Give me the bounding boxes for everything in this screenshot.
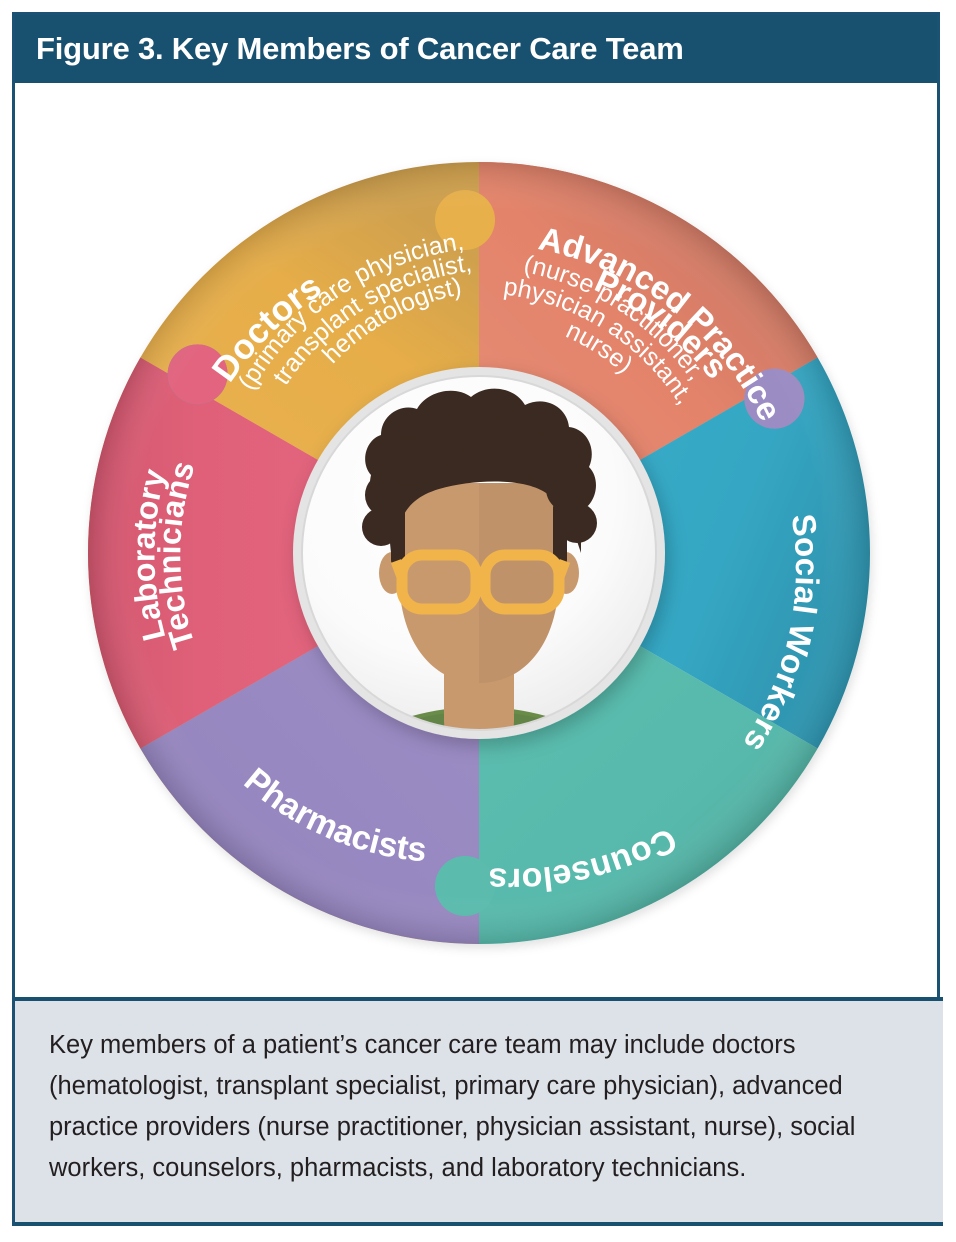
figure-caption: Key members of a patient’s cancer care t…	[15, 997, 943, 1226]
puzzle-wheel-svg: Doctors (primary care physician, transpl…	[15, 83, 937, 993]
page-title: Figure 3. Key Members of Cancer Care Tea…	[15, 31, 684, 67]
avatar-sideburn-left	[391, 501, 405, 567]
puzzle-wheel: Doctors (primary care physician, transpl…	[15, 83, 937, 993]
figure-container: Figure 3. Key Members of Cancer Care Tea…	[12, 12, 940, 1226]
figure-header: Figure 3. Key Members of Cancer Care Tea…	[15, 15, 937, 83]
figure-illustration-area: Doctors (primary care physician, transpl…	[15, 83, 937, 993]
caption-text: Key members of a patient’s cancer care t…	[49, 1025, 909, 1189]
